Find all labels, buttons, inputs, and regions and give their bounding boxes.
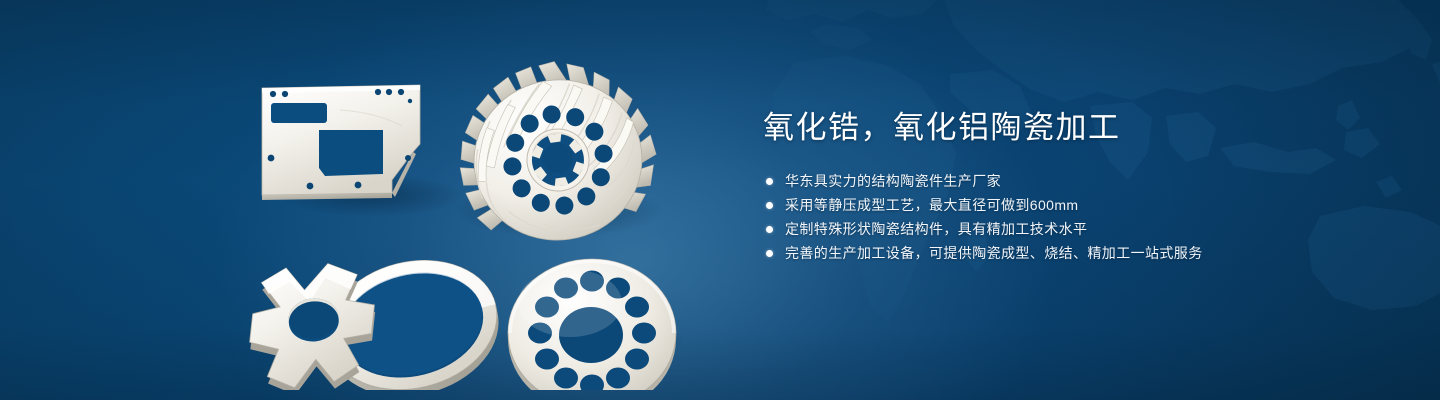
bullet-dot-icon: [766, 226, 773, 233]
feature-list: 华东具实力的结构陶瓷件生产厂家 采用等静压成型工艺，最大直径可做到600mm 定…: [763, 173, 1383, 262]
list-item: 完善的生产加工设备，可提供陶瓷成型、烧结、精加工一站式服务: [763, 245, 1383, 262]
bullet-dot-icon: [766, 178, 773, 185]
bullet-dot-icon: [766, 202, 773, 209]
list-item: 采用等静压成型工艺，最大直径可做到600mm: [763, 197, 1383, 214]
list-item-label: 华东具实力的结构陶瓷件生产厂家: [785, 173, 1001, 189]
ceramic-hole-disc-part: [508, 259, 676, 390]
page-title: 氧化锆，氧化铝陶瓷加工: [763, 108, 1383, 148]
ceramic-ring-part: [242, 243, 512, 390]
hero-banner: 氧化锆，氧化铝陶瓷加工 华东具实力的结构陶瓷件生产厂家 采用等静压成型工艺，最大…: [0, 0, 1440, 400]
ceramic-products-photo: [240, 40, 710, 390]
list-item-label: 采用等静压成型工艺，最大直径可做到600mm: [785, 197, 1078, 213]
copy-block: 氧化锆，氧化铝陶瓷加工 华东具实力的结构陶瓷件生产厂家 采用等静压成型工艺，最大…: [763, 108, 1383, 262]
bullet-dot-icon: [766, 250, 773, 257]
list-item-label: 定制特殊形状陶瓷结构件，具有精加工技术水平: [785, 221, 1087, 237]
list-item: 华东具实力的结构陶瓷件生产厂家: [763, 173, 1383, 190]
list-item: 定制特殊形状陶瓷结构件，具有精加工技术水平: [763, 221, 1383, 238]
list-item-label: 完善的生产加工设备，可提供陶瓷成型、烧结、精加工一站式服务: [785, 245, 1203, 261]
